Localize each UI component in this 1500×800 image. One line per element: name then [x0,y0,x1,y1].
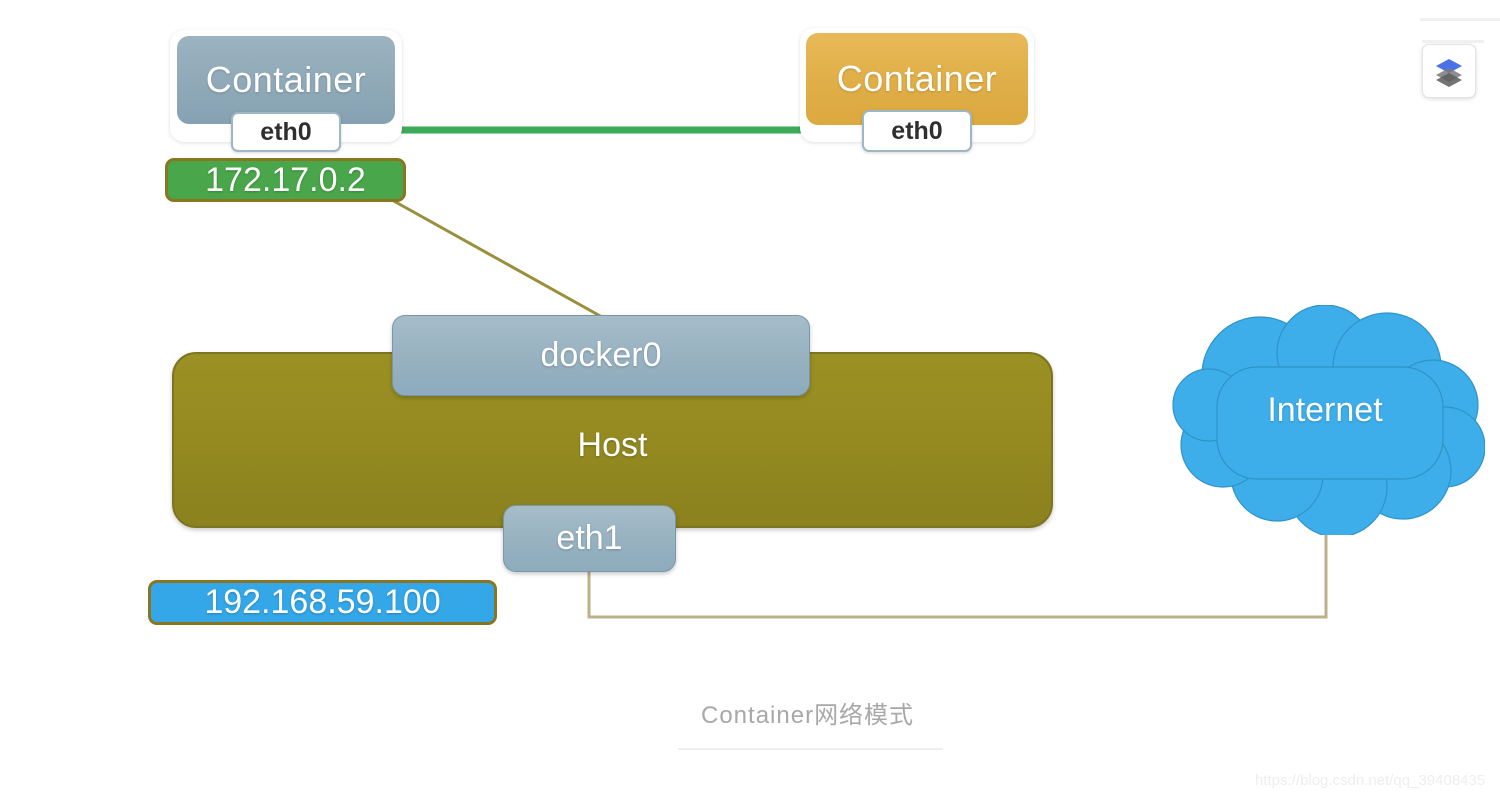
watermark: https://blog.csdn.net/qq_39408435 [1255,772,1485,789]
container-left-eth0-label: eth0 [260,118,311,147]
docker0-box[interactable]: docker0 [392,315,810,396]
caption-rule [678,748,943,750]
top-edge-strip [1420,18,1500,21]
container-left-eth0-tag[interactable]: eth0 [231,112,341,152]
docker0-label: docker0 [541,336,662,375]
cloud-shape [1165,305,1485,535]
host-label: Host [174,426,1051,465]
container-right-label: Container [837,58,998,100]
eth1-label: eth1 [556,519,622,558]
edge-container-ip-to-docker0 [392,200,602,317]
container-right-eth0-tag[interactable]: eth0 [862,110,972,152]
host-ip-badge[interactable]: 192.168.59.100 [148,580,497,625]
container-right-eth0-label: eth0 [891,117,942,146]
internet-cloud[interactable]: Internet [1165,305,1485,535]
container-ip-badge[interactable]: 172.17.0.2 [165,158,406,202]
diagram-canvas: Host docker0 eth1 Container eth0 172.17.… [0,0,1500,800]
eth1-box[interactable]: eth1 [503,505,676,572]
diagram-caption: Container网络模式 [701,695,914,730]
edge-eth1-to-internet [589,530,1326,617]
top-edge-strip-2 [1422,40,1484,43]
container-left-box[interactable]: Container [177,36,395,124]
container-ip-value: 172.17.0.2 [205,161,366,200]
layers-button[interactable] [1422,44,1476,98]
layers-icon [1433,55,1465,87]
container-left-label: Container [206,59,367,101]
host-ip-value: 192.168.59.100 [204,583,440,622]
